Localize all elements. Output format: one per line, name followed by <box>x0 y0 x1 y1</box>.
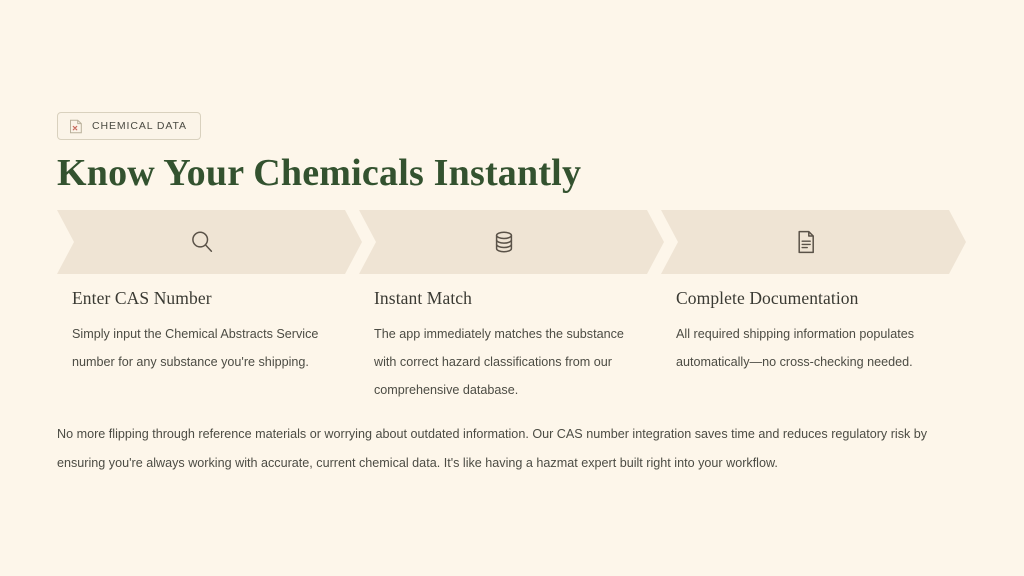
chevron-step-3 <box>661 210 966 274</box>
database-icon <box>490 228 518 256</box>
step-title: Complete Documentation <box>676 286 951 310</box>
chemical-data-badge[interactable]: CHEMICAL DATA <box>57 112 201 140</box>
step-description: The app immediately matches the substanc… <box>374 320 649 404</box>
document-icon <box>792 228 820 256</box>
page-title: Know Your Chemicals Instantly <box>57 150 581 196</box>
search-icon <box>188 228 216 256</box>
chevron-step-2 <box>359 210 664 274</box>
step-item: Enter CAS Number Simply input the Chemic… <box>72 286 347 376</box>
chevron-step-1 <box>57 210 362 274</box>
steps-chevron-band <box>0 210 1024 274</box>
step-title: Instant Match <box>374 286 649 310</box>
step-item: Complete Documentation All required ship… <box>676 286 951 376</box>
slide-root: CHEMICAL DATA Know Your Chemicals Instan… <box>0 0 1024 576</box>
summary-paragraph: No more flipping through reference mater… <box>57 420 957 478</box>
badge-label: CHEMICAL DATA <box>92 121 187 132</box>
step-description: Simply input the Chemical Abstracts Serv… <box>72 320 347 376</box>
step-item: Instant Match The app immediately matche… <box>374 286 649 404</box>
step-title: Enter CAS Number <box>72 286 347 310</box>
step-description: All required shipping information popula… <box>676 320 951 376</box>
document-x-icon <box>69 119 83 134</box>
